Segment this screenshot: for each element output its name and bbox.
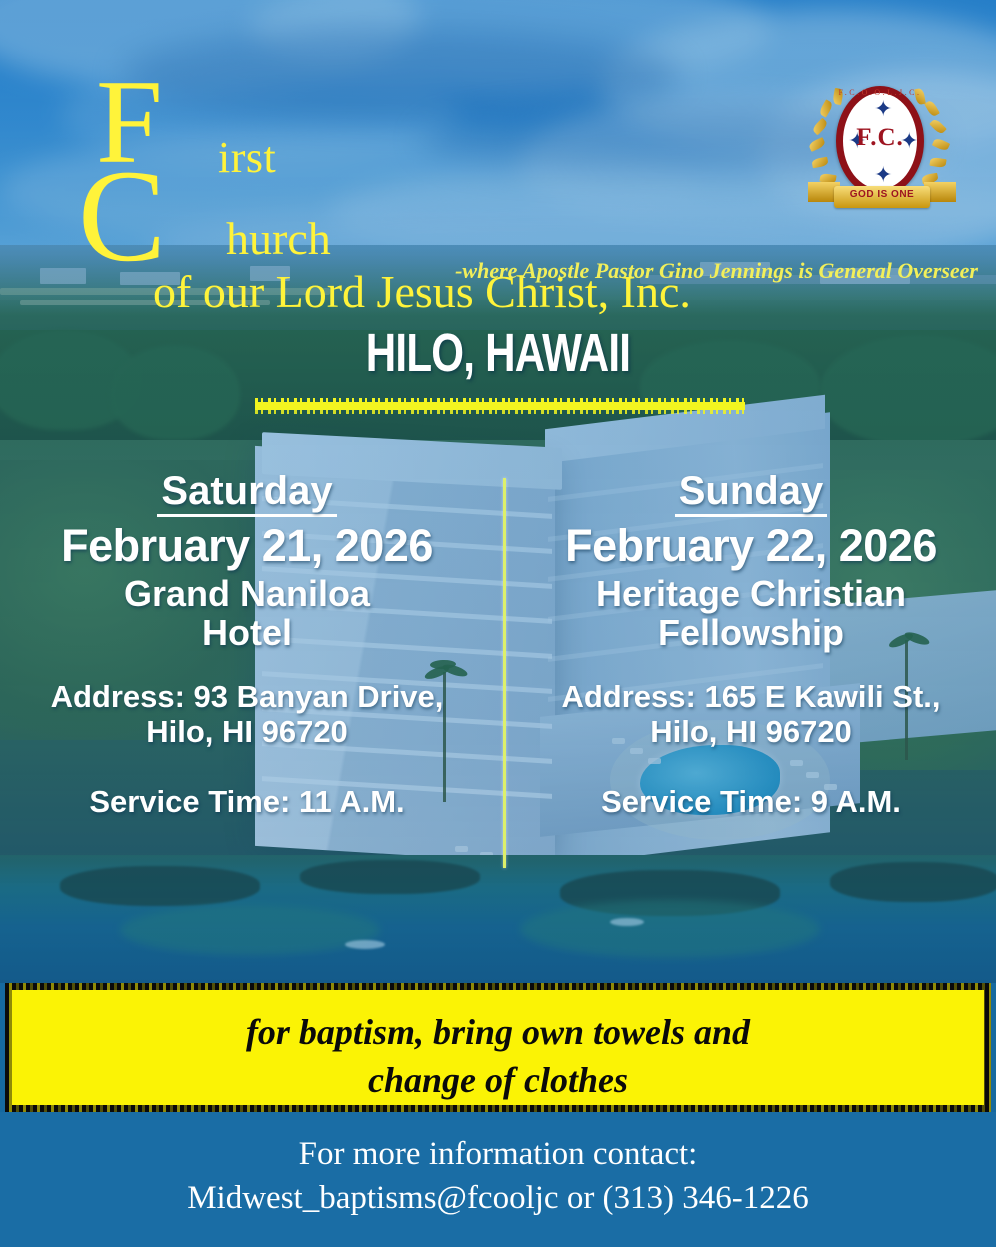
footer: For more information contact: Midwest_ba… [0,1112,996,1247]
notice-line2: change of clothes [5,1057,991,1105]
notice-text: for baptism, bring own towels and change… [5,1009,991,1104]
seal-monogram: F.C. [836,124,924,152]
event-service-time: Service Time: 9 A.M. [506,785,996,819]
tagline: -where Apostle Pastor Gino Jennings is G… [0,258,978,284]
event-address-line2: Hilo, HI 96720 [2,715,492,749]
laurel-leaf [932,137,950,152]
brush-divider [255,398,745,414]
brush-edge-bottom [255,408,745,414]
event-day: Sunday [675,470,827,517]
church-seal-icon: F.C.O.O.L.J.C. ✦ ✦ ✦ ✦ F.C. GOD IS ONE [800,82,960,232]
laurel-leaf [818,99,834,117]
logo-word-first: irst [218,132,276,183]
event-address-line1: Address: 93 Banyan Drive, [2,680,492,714]
event-venue-line2: Hotel [2,614,492,653]
laurel-leaf [811,118,829,136]
laurel-leaf [811,157,828,169]
footer-line2: Midwest_baptisms@fcooljc or (313) 346-12… [0,1176,996,1220]
page-title: HILO, HAWAII [110,322,887,384]
laurel-leaf [929,157,946,169]
event-service-time: Service Time: 11 A.M. [2,785,492,819]
laurel-leaf [929,118,947,136]
event-venue-line2: Fellowship [506,614,996,653]
seal-ornament: ✦ [874,98,892,120]
event-columns: Saturday February 21, 2026 Grand Naniloa… [0,470,996,870]
event-venue-line1: Grand Naniloa [2,575,492,614]
event-column-sunday: Sunday February 22, 2026 Heritage Christ… [506,470,996,819]
seal-banner-text: GOD IS ONE [834,189,930,200]
footer-line1: For more information contact: [0,1132,996,1176]
seal-banner: GOD IS ONE [808,180,954,214]
event-address-line1: Address: 165 E Kawili St., [506,680,996,714]
laurel-leaf [808,137,826,152]
footer-contact: For more information contact: Midwest_ba… [0,1132,996,1220]
event-address-line2: Hilo, HI 96720 [506,715,996,749]
laurel-leaf [924,99,940,117]
flyer: F C irst hurch of our Lord Jesus Christ,… [0,0,996,1247]
notice-line1: for baptism, bring own towels and [5,1009,991,1057]
event-venue-line1: Heritage Christian [506,575,996,614]
event-day: Saturday [157,470,336,517]
event-date: February 21, 2026 [2,521,492,571]
baptism-notice-banner: for baptism, bring own towels and change… [5,983,991,1112]
church-logo: F C irst hurch of our Lord Jesus Christ,… [78,62,688,262]
event-column-saturday: Saturday February 21, 2026 Grand Naniloa… [2,470,492,819]
event-date: February 22, 2026 [506,521,996,571]
